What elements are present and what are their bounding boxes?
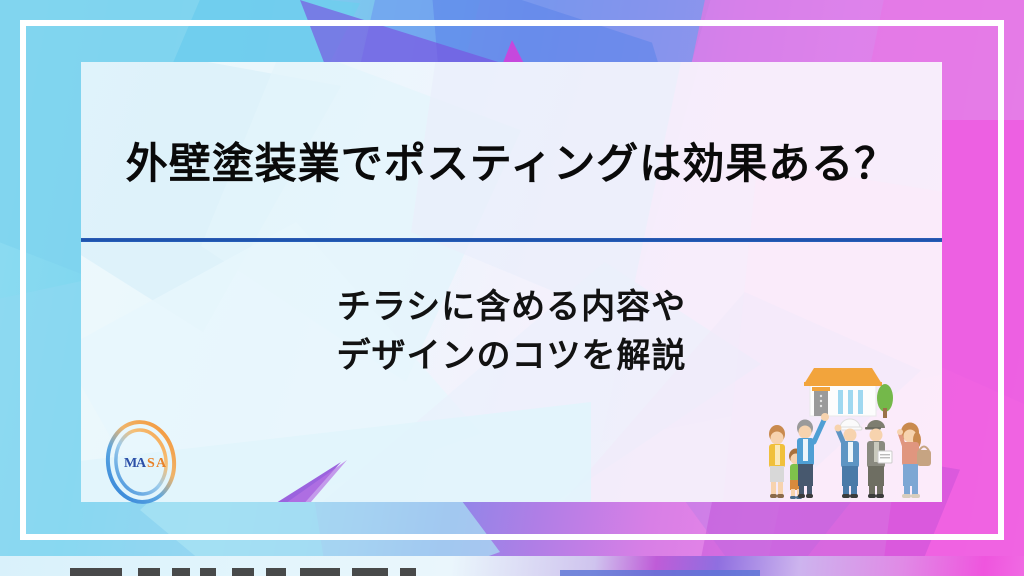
person-worker-white-helmet xyxy=(835,419,863,498)
house-icon xyxy=(804,368,893,418)
strip-fragment-7 xyxy=(300,568,340,576)
strip-fragment-4 xyxy=(200,568,216,576)
svg-text:S: S xyxy=(147,456,155,471)
strip-fragment-1 xyxy=(70,568,122,576)
strip-fragment-2 xyxy=(138,568,160,576)
person-worker-grey-clipboard xyxy=(865,420,892,498)
svg-text:A: A xyxy=(136,456,147,471)
strip-fragment-blue xyxy=(560,570,760,576)
svg-text:A: A xyxy=(156,456,167,471)
strip-fragment-3 xyxy=(172,568,190,576)
person-man-blue-waving xyxy=(797,413,829,498)
subtitle-line-1: チラシに含める内容や xyxy=(81,283,942,332)
slide-canvas: 外壁塗装業でポスティングは効果ある？ チラシに含める内容や デザインのコツを解説 xyxy=(0,0,1024,576)
person-woman-with-bag xyxy=(897,423,931,499)
title-divider xyxy=(81,238,942,242)
strip-fragment-9 xyxy=(400,568,416,576)
masa-logo: M A S A xyxy=(88,416,194,508)
strip-fragment-8 xyxy=(352,568,388,576)
person-woman-yellow xyxy=(769,425,785,498)
illustration-house-and-people xyxy=(752,356,942,502)
strip-fragment-5 xyxy=(232,568,254,576)
strip-fragment-6 xyxy=(266,568,286,576)
page-title: 外壁塗装業でポスティングは効果ある？ xyxy=(81,140,942,188)
bottom-edge-strip xyxy=(0,556,1024,576)
